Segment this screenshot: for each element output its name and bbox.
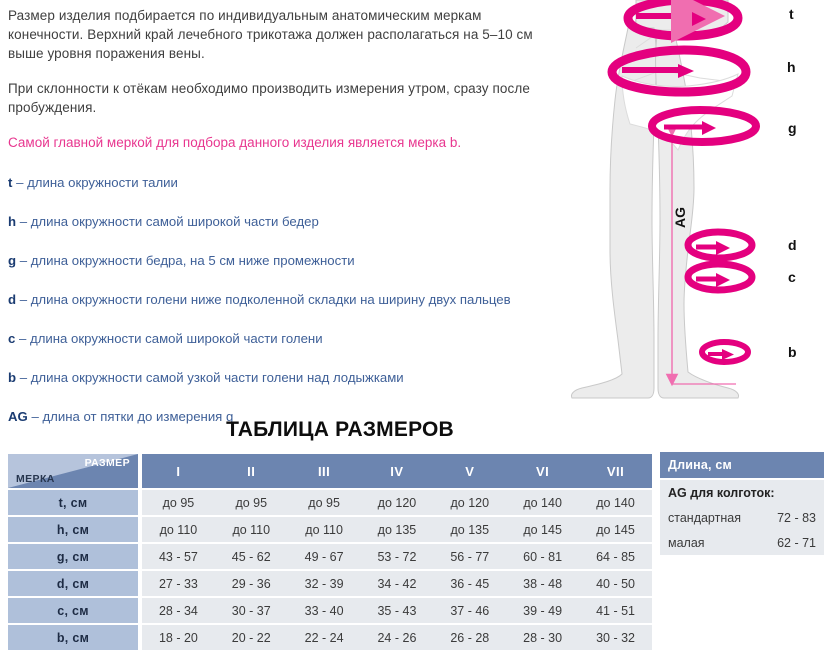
cell-h-7: до 145 <box>579 517 652 542</box>
cell-b-1: 18 - 20 <box>142 625 215 650</box>
cell-t-4: до 120 <box>361 490 434 515</box>
size-table-header-row: РАЗМЕР МЕРКА I II III IV V VI VII <box>8 454 652 488</box>
table-row: b, см 18 - 20 20 - 22 22 - 24 24 - 26 26… <box>8 625 652 650</box>
cell-c-4: 35 - 43 <box>361 598 434 623</box>
size-header-1: I <box>142 454 215 488</box>
legend-text-b: длина окружности самой узкой части голен… <box>31 370 404 385</box>
legend-dash-c: – <box>15 331 30 346</box>
size-header-7: VII <box>579 454 652 488</box>
table-row: c, см 28 - 34 30 - 37 33 - 40 35 - 43 37… <box>8 598 652 623</box>
diagram-label-c: c <box>788 269 796 285</box>
length-label-small: малая <box>660 530 761 555</box>
legend-key-g: g <box>8 253 16 268</box>
highlight-note: Самой главной меркой для подбора данного… <box>8 133 560 152</box>
corner-header-cell: РАЗМЕР МЕРКА <box>8 454 138 488</box>
cell-g-1: 43 - 57 <box>142 544 215 569</box>
cell-t-6: до 140 <box>506 490 579 515</box>
intro-paragraph-2: При склонности к отёкам необходимо произ… <box>8 79 560 117</box>
size-header-2: II <box>215 454 288 488</box>
table-row: g, см 43 - 57 45 - 62 49 - 67 53 - 72 56… <box>8 544 652 569</box>
length-table-subtitle: AG для колготок: <box>660 480 824 505</box>
diagram-label-ag: AG <box>672 207 688 228</box>
cell-d-3: 32 - 39 <box>288 571 361 596</box>
cell-c-1: 28 - 34 <box>142 598 215 623</box>
cell-c-7: 41 - 51 <box>579 598 652 623</box>
legend-key-b: b <box>8 370 16 385</box>
cell-t-1: до 95 <box>142 490 215 515</box>
cell-g-4: 53 - 72 <box>361 544 434 569</box>
measure-ring-b <box>702 342 748 362</box>
cell-h-2: до 110 <box>215 517 288 542</box>
row-label-d: d, см <box>8 571 138 596</box>
cell-t-7: до 140 <box>579 490 652 515</box>
length-value-small: 62 - 71 <box>761 530 824 555</box>
size-header-6: VI <box>506 454 579 488</box>
length-value-standard: 72 - 83 <box>761 505 824 530</box>
legend-key-h: h <box>8 214 16 229</box>
legend-dash-t: – <box>12 175 27 190</box>
size-header-4: IV <box>361 454 434 488</box>
legend-dash-b: – <box>16 370 31 385</box>
corner-measure-label: МЕРКА <box>16 473 55 485</box>
cell-t-5: до 120 <box>433 490 506 515</box>
cell-g-5: 56 - 77 <box>433 544 506 569</box>
size-header-3: III <box>288 454 361 488</box>
diagram-label-b: b <box>788 344 797 360</box>
cell-t-2: до 95 <box>215 490 288 515</box>
row-label-t: t, см <box>8 490 138 515</box>
legend-text-d: длина окружности голени ниже подколенной… <box>31 292 511 307</box>
row-label-g: g, см <box>8 544 138 569</box>
cell-h-1: до 110 <box>142 517 215 542</box>
size-header-5: V <box>433 454 506 488</box>
length-info-table: Длина, см AG для колготок: стандартная 7… <box>660 452 824 555</box>
cell-g-7: 64 - 85 <box>579 544 652 569</box>
legend-item-g: g – длина окружности бедра, на 5 см ниже… <box>8 252 560 269</box>
table-row: стандартная 72 - 83 <box>660 505 824 530</box>
cell-b-7: 30 - 32 <box>579 625 652 650</box>
measure-ring-d <box>688 232 752 258</box>
table-row: h, см до 110 до 110 до 110 до 135 до 135… <box>8 517 652 542</box>
table-row: малая 62 - 71 <box>660 530 824 555</box>
legend-item-t: t – длина окружности талии <box>8 174 560 191</box>
legend-item-h: h – длина окружности самой широкой части… <box>8 213 560 230</box>
cell-c-5: 37 - 46 <box>433 598 506 623</box>
cell-c-3: 33 - 40 <box>288 598 361 623</box>
text-column: Размер изделия подбирается по индивидуал… <box>8 6 560 447</box>
length-label-standard: стандартная <box>660 505 761 530</box>
cell-b-5: 26 - 28 <box>433 625 506 650</box>
table-row: t, см до 95 до 95 до 95 до 120 до 120 до… <box>8 490 652 515</box>
cell-h-5: до 135 <box>433 517 506 542</box>
cell-d-7: 40 - 50 <box>579 571 652 596</box>
table-row: d, см 27 - 33 29 - 36 32 - 39 34 - 42 36… <box>8 571 652 596</box>
legend-text-c: длина окружности самой широкой части гол… <box>30 331 323 346</box>
cell-g-3: 49 - 67 <box>288 544 361 569</box>
cell-g-6: 60 - 81 <box>506 544 579 569</box>
legend-dash-g: – <box>16 253 31 268</box>
legend-item-d: d – длина окружности голени ниже подколе… <box>8 291 560 308</box>
legend-item-b: b – длина окружности самой узкой части г… <box>8 369 560 386</box>
cell-d-2: 29 - 36 <box>215 571 288 596</box>
cell-c-6: 39 - 49 <box>506 598 579 623</box>
legend-text-t: длина окружности талии <box>27 175 178 190</box>
size-table-title: ТАБЛИЦА РАЗМЕРОВ <box>0 418 680 442</box>
row-label-c: c, см <box>8 598 138 623</box>
diagram-label-t: t <box>789 6 794 22</box>
top-section: Размер изделия подбирается по индивидуал… <box>0 0 832 412</box>
legend-dash-h: – <box>16 214 31 229</box>
corner-size-label: РАЗМЕР <box>85 457 130 469</box>
cell-h-4: до 135 <box>361 517 434 542</box>
intro-paragraph-1: Размер изделия подбирается по индивидуал… <box>8 6 560 63</box>
length-table-header-row: Длина, см <box>660 452 824 478</box>
body-silhouette <box>571 0 738 398</box>
row-label-b: b, см <box>8 625 138 650</box>
diagram-label-h: h <box>787 59 796 75</box>
legend-key-d: d <box>8 292 16 307</box>
legend-text-g: длина окружности бедра, на 5 см ниже про… <box>31 253 355 268</box>
cell-t-3: до 95 <box>288 490 361 515</box>
measurement-legend: t – длина окружности талии h – длина окр… <box>8 174 560 425</box>
cell-g-2: 45 - 62 <box>215 544 288 569</box>
cell-h-6: до 145 <box>506 517 579 542</box>
diagram-label-g: g <box>788 120 797 136</box>
measure-ring-c <box>688 264 752 290</box>
legend-dash-d: – <box>16 292 31 307</box>
cell-h-3: до 110 <box>288 517 361 542</box>
length-table-subtitle-row: AG для колготок: <box>660 480 824 505</box>
row-label-h: h, см <box>8 517 138 542</box>
cell-d-5: 36 - 45 <box>433 571 506 596</box>
cell-c-2: 30 - 37 <box>215 598 288 623</box>
length-table-header: Длина, см <box>660 452 824 478</box>
cell-b-6: 28 - 30 <box>506 625 579 650</box>
cell-d-1: 27 - 33 <box>142 571 215 596</box>
size-table-head: РАЗМЕР МЕРКА I II III IV V VI VII <box>8 454 652 488</box>
cell-b-4: 24 - 26 <box>361 625 434 650</box>
cell-d-4: 34 - 42 <box>361 571 434 596</box>
size-table-body: t, см до 95 до 95 до 95 до 120 до 120 до… <box>8 490 652 650</box>
cell-d-6: 38 - 48 <box>506 571 579 596</box>
diagram-label-d: d <box>788 237 797 253</box>
legend-text-h: длина окружности самой широкой части бед… <box>31 214 319 229</box>
legend-item-c: c – длина окружности самой широкой части… <box>8 330 560 347</box>
size-table: РАЗМЕР МЕРКА I II III IV V VI VII t, см … <box>8 452 652 652</box>
cell-b-2: 20 - 22 <box>215 625 288 650</box>
cell-b-3: 22 - 24 <box>288 625 361 650</box>
